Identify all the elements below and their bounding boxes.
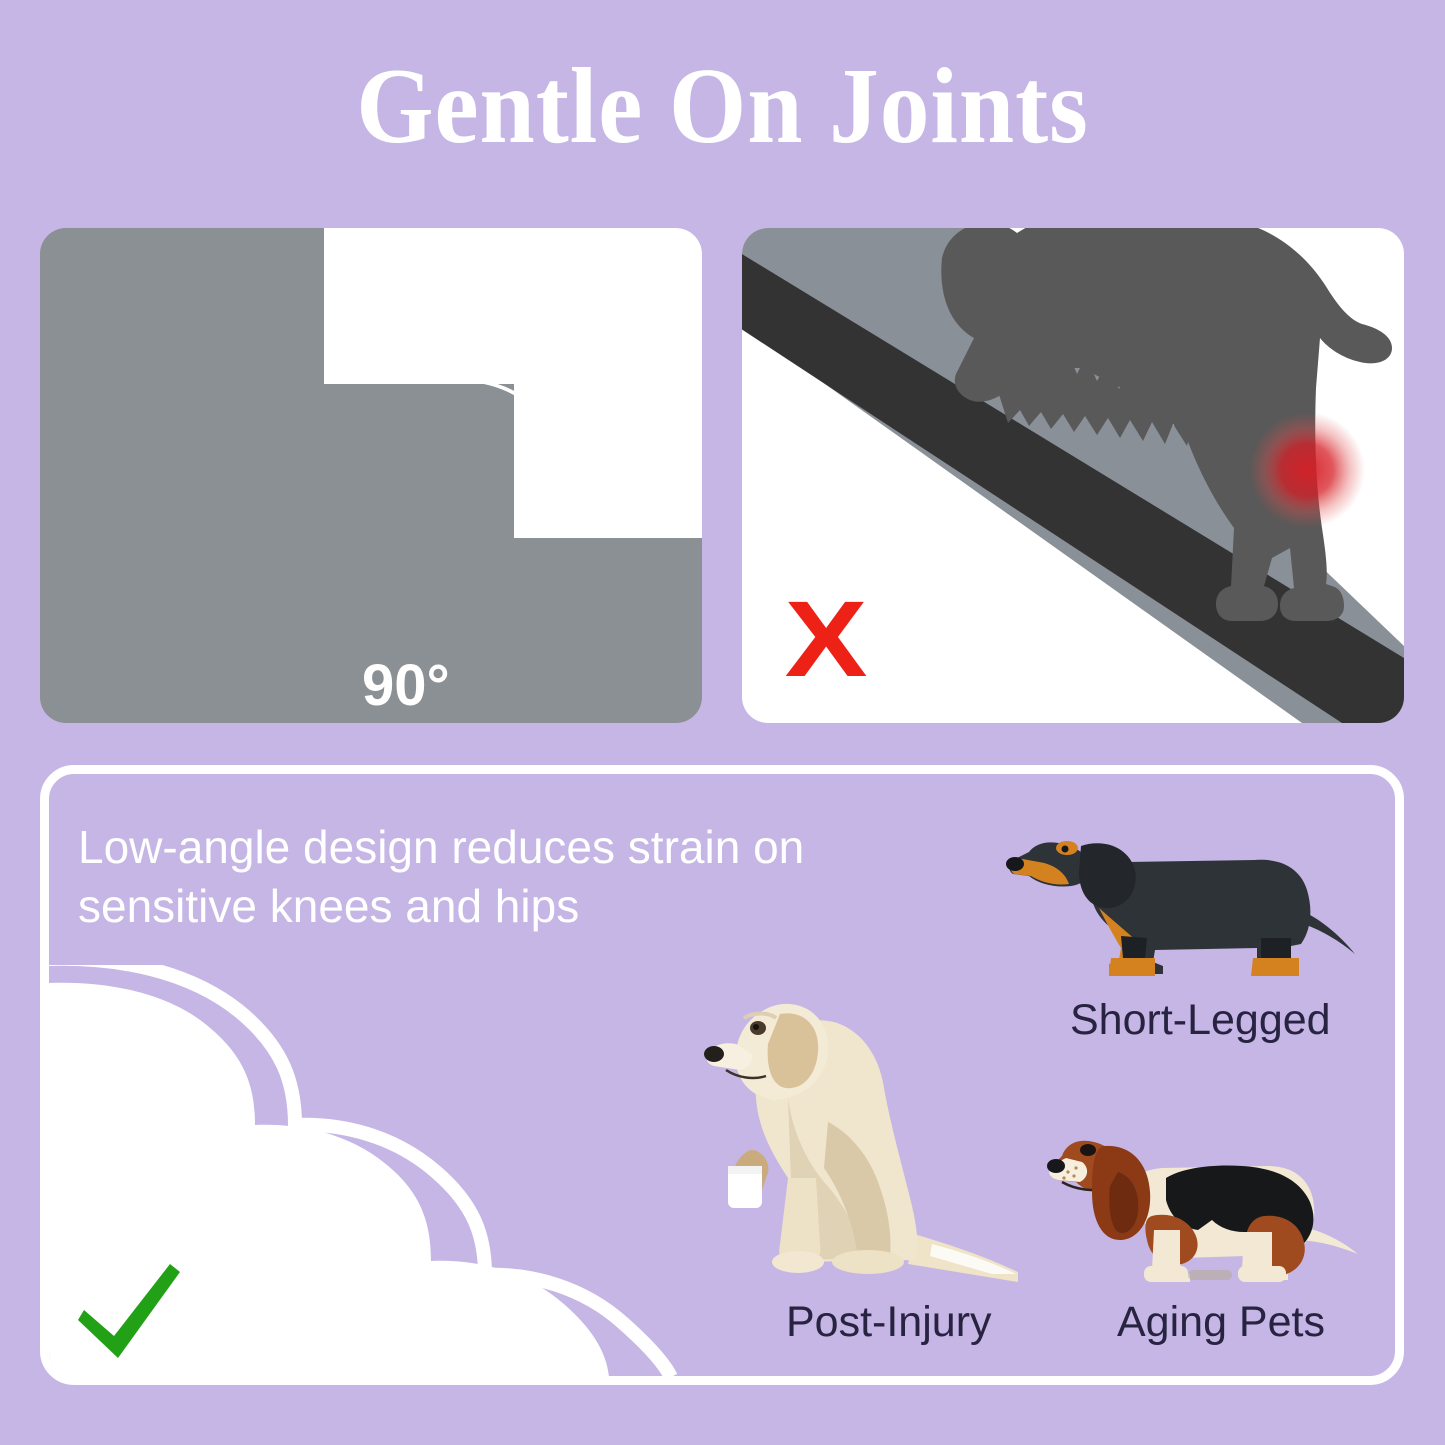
dog-illustration-dachshund [995, 812, 1365, 992]
benefit-headline: Low-angle design reduces strain on sensi… [78, 818, 898, 936]
dog-label-post-injury: Post-Injury [786, 1298, 992, 1347]
dog-label-short-legged: Short-Legged [1070, 996, 1331, 1045]
joint-pain-marker [1249, 412, 1365, 528]
page-title: Gentle On Joints [58, 50, 1387, 163]
x-mark-icon-ramp: X [785, 585, 868, 693]
dog-illustration-golden-retriever [692, 982, 1022, 1282]
angle-label: 90° [362, 652, 450, 719]
poster-root: Gentle On Joints 90° X [0, 0, 1445, 1445]
check-mark-icon [70, 1258, 190, 1368]
dog-illustration-basset-hound [1032, 1120, 1362, 1292]
step-angle-arc-icon [40, 228, 702, 723]
dog-label-aging-pets: Aging Pets [1117, 1298, 1325, 1347]
panel-steep-step: 90° X [40, 228, 702, 723]
panel-steep-ramp: X [742, 228, 1404, 723]
